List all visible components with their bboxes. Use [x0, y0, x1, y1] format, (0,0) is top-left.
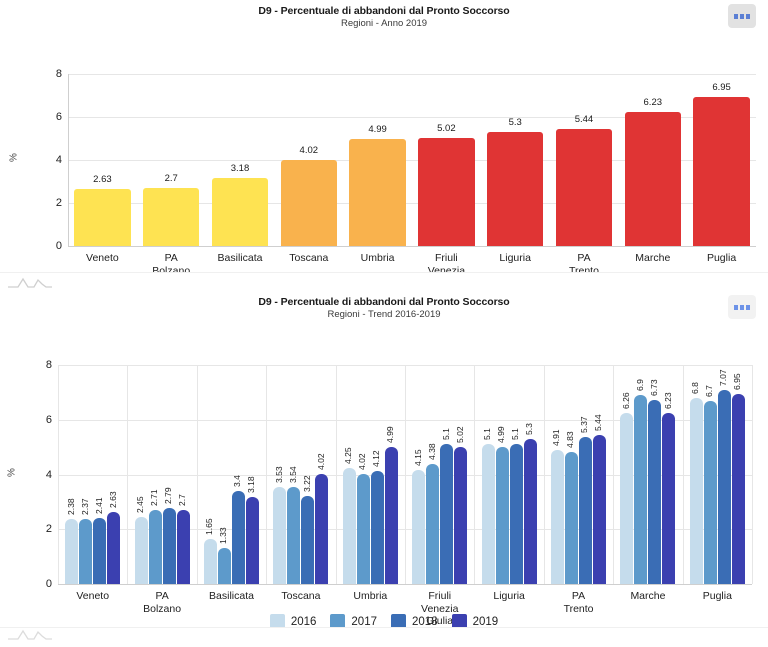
- bar-group: 2.7: [137, 74, 206, 246]
- bar[interactable]: 6.9: [634, 395, 647, 584]
- bar[interactable]: 5.1: [510, 444, 523, 584]
- bar-value-label: 3.4: [232, 475, 242, 487]
- bar-series: 2.632.73.184.024.995.025.35.446.236.95: [68, 74, 756, 246]
- bar-value-label: 6.8: [690, 382, 700, 394]
- bar[interactable]: 6.73: [648, 400, 661, 584]
- bar[interactable]: 5.1: [482, 444, 495, 584]
- chart-title-1: D9 - Percentuale di abbandoni dal Pronto…: [0, 5, 768, 18]
- bar[interactable]: [212, 178, 268, 246]
- bar[interactable]: 2.7: [177, 510, 190, 584]
- bar-value-label: 5.02: [412, 123, 481, 134]
- bar[interactable]: 5.44: [593, 435, 606, 584]
- ellipsis-icon[interactable]: [728, 4, 756, 28]
- bar[interactable]: 4.15: [412, 470, 425, 584]
- bar-group: 2.382.372.412.63: [58, 512, 127, 584]
- bar[interactable]: 2.45: [135, 517, 148, 584]
- gridline: [68, 246, 756, 247]
- y-axis-tick: 0: [30, 578, 52, 590]
- bar-value-label: 2.71: [149, 489, 159, 506]
- bar-value-label: 2.79: [163, 487, 173, 504]
- bar[interactable]: 6.26: [620, 413, 633, 584]
- bar[interactable]: 5.37: [579, 437, 592, 584]
- bar-value-label: 5.44: [593, 415, 603, 432]
- y-axis-tick: 6: [30, 414, 52, 426]
- bar[interactable]: 3.53: [273, 487, 286, 584]
- bar[interactable]: 3.4: [232, 491, 245, 584]
- bar[interactable]: 4.91: [551, 450, 564, 584]
- bar-value-label: 2.45: [135, 496, 145, 513]
- bar-group: 5.3: [481, 74, 550, 246]
- bar[interactable]: 2.79: [163, 508, 176, 584]
- chart-panel-2019: D9 - Percentuale di abbandoni dal Pronto…: [0, 0, 768, 272]
- y-axis-tick: 2: [30, 523, 52, 535]
- bar-value-label: 2.7: [137, 173, 206, 184]
- legend-label: 2018: [412, 616, 438, 628]
- panel-divider: [0, 272, 768, 291]
- bar-value-label: 4.83: [565, 431, 575, 448]
- y-axis-tick: 2: [38, 197, 62, 209]
- y-axis-tick: 6: [38, 111, 62, 123]
- legend-label: 2016: [291, 616, 317, 628]
- bar-value-label: 1.65: [204, 518, 214, 535]
- bar-value-label: 7.07: [718, 370, 728, 387]
- bar-value-label: 6.23: [663, 393, 673, 410]
- category-separator: [752, 365, 753, 584]
- bar-value-label: 6.73: [649, 379, 659, 396]
- bar-value-label: 3.18: [206, 163, 275, 174]
- bar-value-label: 2.63: [68, 174, 137, 185]
- bar[interactable]: 3.18: [246, 497, 259, 584]
- bar[interactable]: [143, 188, 199, 246]
- y-axis-tick: 4: [30, 469, 52, 481]
- legend-label: 2019: [473, 616, 499, 628]
- bar[interactable]: 2.37: [79, 519, 92, 584]
- bar[interactable]: [487, 132, 543, 246]
- bar-value-label: 3.18: [246, 476, 256, 493]
- bar-value-label: 6.26: [621, 392, 631, 409]
- bar[interactable]: [625, 112, 681, 246]
- ellipsis-icon[interactable]: [728, 295, 756, 319]
- bar[interactable]: 4.38: [426, 464, 439, 584]
- chart-header-1: D9 - Percentuale di abbandoni dal Pronto…: [0, 0, 768, 30]
- bar[interactable]: 5.02: [454, 447, 467, 584]
- bar-group: 2.452.712.792.7: [127, 508, 196, 584]
- bar-value-label: 2.38: [66, 498, 76, 515]
- chart-subtitle-2: Regioni - Trend 2016-2019: [0, 309, 768, 321]
- bar[interactable]: 5.1: [440, 444, 453, 584]
- bar-value-label: 5.3: [481, 117, 550, 128]
- bar[interactable]: 4.83: [565, 452, 578, 584]
- bar-value-label: 2.37: [80, 499, 90, 516]
- bar-group: 1.651.333.43.18: [197, 491, 266, 584]
- bar[interactable]: 6.23: [662, 413, 675, 584]
- bar-value-label: 1.33: [218, 527, 228, 544]
- y-axis-tick: 0: [38, 240, 62, 252]
- bar-group: 6.95: [687, 74, 756, 246]
- bar-value-label: 3.22: [302, 475, 312, 492]
- legend-label: 2017: [351, 616, 377, 628]
- y-axis-label: %: [9, 146, 20, 170]
- bar[interactable]: 4.02: [357, 474, 370, 584]
- gridline: [58, 584, 752, 585]
- bar-group: 4.914.835.375.44: [544, 435, 613, 584]
- bar-value-label: 4.99: [496, 427, 506, 444]
- bar-group: 4.254.024.124.99: [336, 447, 405, 584]
- bar-value-label: 5.02: [455, 426, 465, 443]
- bar[interactable]: 3.54: [287, 487, 300, 584]
- bar[interactable]: 2.71: [149, 510, 162, 584]
- chart-header-2: D9 - Percentuale di abbandoni dal Pronto…: [0, 291, 768, 321]
- bar-value-label: 2.41: [94, 497, 104, 514]
- bar-value-label: 4.02: [357, 453, 367, 470]
- bar-value-label: 6.95: [687, 82, 756, 93]
- bar-group: 6.86.77.076.95: [683, 390, 752, 584]
- bar[interactable]: 6.7: [704, 401, 717, 584]
- bar-value-label: 6.7: [704, 385, 714, 397]
- bar-value-label: 4.99: [343, 124, 412, 135]
- bar[interactable]: 6.95: [732, 394, 745, 584]
- bar[interactable]: 6.8: [690, 398, 703, 584]
- bar-value-label: 5.1: [441, 429, 451, 441]
- bar-value-label: 5.3: [524, 423, 534, 435]
- bar-group: 3.533.543.224.02: [266, 474, 335, 584]
- bar-group: 3.18: [206, 74, 275, 246]
- bar[interactable]: 4.25: [343, 468, 356, 584]
- y-axis-label: %: [7, 460, 18, 484]
- bar-value-label: 4.12: [371, 451, 381, 468]
- y-axis-tick: 4: [38, 154, 62, 166]
- bar-value-label: 5.37: [579, 416, 589, 433]
- chart-panel-trend: D9 - Percentuale di abbandoni dal Pronto…: [0, 291, 768, 629]
- bar[interactable]: 2.38: [65, 519, 78, 584]
- bar-value-label: 2.63: [108, 491, 118, 508]
- sparkline-chart-icon: [6, 626, 54, 642]
- bar[interactable]: 2.41: [93, 518, 106, 584]
- bar[interactable]: [693, 97, 749, 246]
- sparkline-chart-icon: [6, 274, 54, 290]
- bar-group: 5.02: [412, 74, 481, 246]
- bar[interactable]: 1.65: [204, 539, 217, 584]
- bar-value-label: 6.23: [618, 97, 687, 108]
- bar-group: 4.99: [343, 74, 412, 246]
- bar-value-label: 4.15: [413, 450, 423, 467]
- bar[interactable]: [281, 160, 337, 246]
- bar[interactable]: 5.3: [524, 439, 537, 584]
- y-axis-tick: 8: [30, 359, 52, 371]
- bar[interactable]: 1.33: [218, 548, 231, 584]
- bar-value-label: 4.25: [343, 447, 353, 464]
- bar[interactable]: 4.99: [385, 447, 398, 584]
- bar[interactable]: 2.63: [107, 512, 120, 584]
- bar-value-label: 2.7: [177, 494, 187, 506]
- bar-group: 4.154.385.15.02: [405, 444, 474, 584]
- bar-value-label: 4.91: [551, 429, 561, 446]
- y-axis-tick: 8: [38, 68, 62, 80]
- bar[interactable]: 3.22: [301, 496, 314, 584]
- chart-title-2: D9 - Percentuale di abbandoni dal Pronto…: [0, 296, 768, 309]
- bar-value-label: 6.95: [732, 373, 742, 390]
- bar-group: 5.44: [550, 74, 619, 246]
- bar[interactable]: 7.07: [718, 390, 731, 584]
- bar[interactable]: [74, 189, 130, 246]
- bar-group: 2.63: [68, 74, 137, 246]
- bar-value-label: 4.02: [316, 453, 326, 470]
- bar[interactable]: 4.02: [315, 474, 328, 584]
- bar-value-label: 4.02: [274, 145, 343, 156]
- bar[interactable]: 4.12: [371, 471, 384, 584]
- bar-value-label: 5.1: [482, 429, 492, 441]
- bar-group: 6.266.96.736.23: [613, 395, 682, 584]
- bar-value-label: 3.54: [288, 467, 298, 484]
- chart-subtitle-1: Regioni - Anno 2019: [0, 18, 768, 30]
- bar-group: 4.02: [274, 74, 343, 246]
- bar[interactable]: [349, 139, 405, 246]
- bar-value-label: 4.99: [385, 427, 395, 444]
- bar-group: 5.14.995.15.3: [474, 439, 543, 584]
- bar-value-label: 5.44: [550, 114, 619, 125]
- bar-value-label: 3.53: [274, 467, 284, 484]
- bar-value-label: 4.38: [427, 444, 437, 461]
- bar-group: 6.23: [618, 74, 687, 246]
- bar-value-label: 6.9: [635, 379, 645, 391]
- bottom-strip: [0, 627, 768, 647]
- bar[interactable]: [418, 138, 474, 246]
- bar[interactable]: [556, 129, 612, 246]
- bar-value-label: 5.1: [510, 429, 520, 441]
- bar[interactable]: 4.99: [496, 447, 509, 584]
